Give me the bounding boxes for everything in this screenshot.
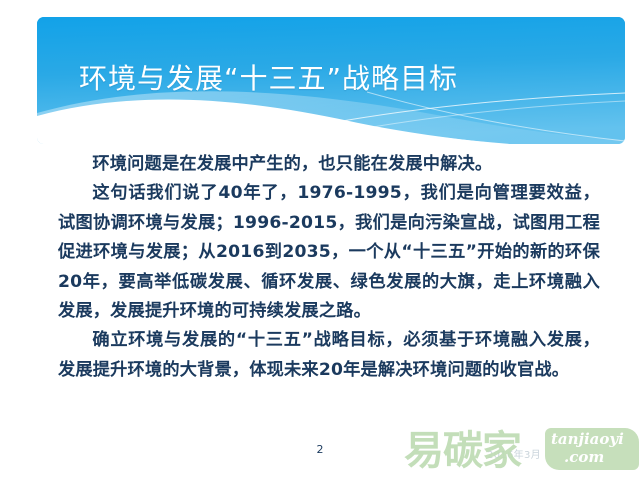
page-number: 2: [310, 443, 330, 456]
slide-body-text: 环境问题是在发展中产生的，也只能在发展中解决。 这句话我们说了40年了，1976…: [58, 150, 600, 385]
presentation-slide: 环境与发展“十三五”战略目标 环境问题是在发展中产生的，也只能在发展中解决。 这…: [0, 0, 640, 480]
body-paragraph: 环境问题是在发展中产生的，也只能在发展中解决。: [58, 150, 600, 179]
slide-title-banner: 环境与发展“十三五”战略目标: [37, 17, 625, 144]
watermark-domain-line1: tanjiaoyi: [551, 431, 624, 448]
body-paragraph: 确立环境与发展的“十三五”战略目标，必须基于环境融入发展，发展提升环境的大背景，…: [58, 326, 600, 385]
watermark: 易碳家 tanjiaoyi .com: [404, 426, 640, 478]
page-title: 环境与发展“十三五”战略目标: [79, 61, 458, 97]
watermark-brand-text: 易碳家: [404, 426, 521, 476]
body-paragraph: 这句话我们说了40年了，1976-1995，我们是向管理要效益，试图协调环境与发…: [58, 179, 600, 326]
watermark-domain-line2: .com: [564, 449, 604, 466]
